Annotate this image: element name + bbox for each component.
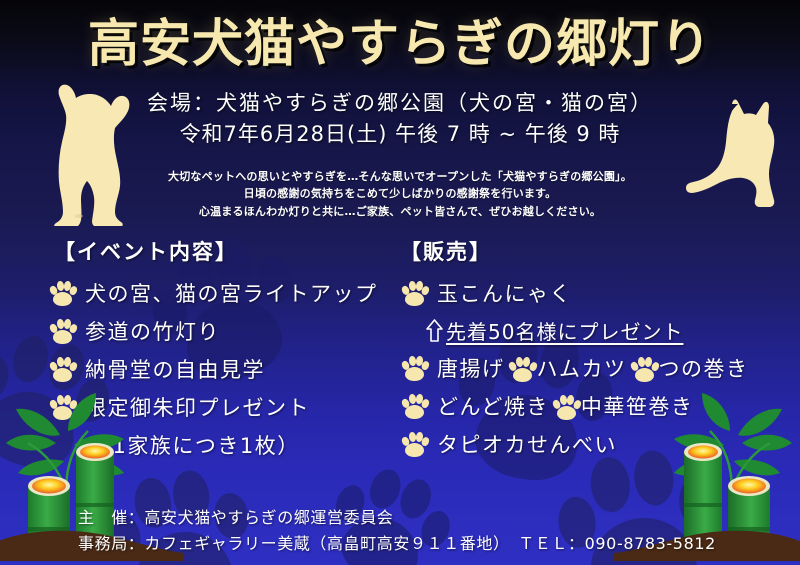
paw-icon xyxy=(630,356,658,381)
event-list-item: 納骨堂の自由見学 xyxy=(48,354,408,384)
paw-icon xyxy=(48,318,78,345)
paw-icon xyxy=(508,356,536,381)
description-line-2: 日頃の感謝の気持ちをこめて少しばかりの感謝祭を行います。 xyxy=(0,185,800,202)
sales-list-item: 玉こんにゃく xyxy=(400,278,790,308)
event-item-label: 犬の宮、猫の宮ライトアップ xyxy=(85,278,378,308)
sales-list-item: 唐揚げ ハムカツ つの巻き xyxy=(400,353,790,383)
event-list-item: 参道の竹灯り xyxy=(48,316,408,346)
paw-icon xyxy=(400,431,430,458)
arrow-up-icon xyxy=(426,319,443,343)
venue-block: 会場：犬猫やすらぎの郷公園（犬の宮・猫の宮） 令和7年6月28日(土) 午後 7… xyxy=(0,89,800,150)
description-block: 大切なペットへの思いとやすらぎを…そんな思いでオープンした「犬猫やすらぎの郷公園… xyxy=(0,168,800,220)
paw-icon xyxy=(400,355,430,382)
sales-item-label: つの巻き xyxy=(659,353,749,383)
paw-icon xyxy=(400,393,430,420)
venue-location: 会場：犬猫やすらぎの郷公園（犬の宮・猫の宮） xyxy=(0,89,800,119)
venue-datetime: 令和7年6月28日(土) 午後 7 時 ~ 午後 9 時 xyxy=(0,119,800,151)
poster-title: 高安犬猫やすらぎの郷灯り xyxy=(0,19,800,70)
sales-item-label: 唐揚げ xyxy=(437,353,505,383)
sales-item-label: 玉こんにゃく xyxy=(437,278,572,308)
paw-icon xyxy=(48,280,78,307)
event-item-label: 納骨堂の自由見学 xyxy=(85,354,265,384)
event-item-label: 参道の竹灯り xyxy=(85,316,220,346)
footer-block: 主 催：高安犬猫やすらぎの郷運営委員会 事務局：カフェギャラリー美蔵（高畠町高安… xyxy=(78,505,716,557)
paw-icon xyxy=(48,356,78,383)
description-line-3: 心温まるほんわか灯りと共に…ご家族、ペット皆さんで、ぜひお越しください。 xyxy=(0,203,800,220)
sales-giveaway-label: 先着50名様にプレゼント xyxy=(446,316,683,345)
footer-organizer: 主 催：高安犬猫やすらぎの郷運営委員会 xyxy=(78,505,716,531)
event-poster: 高安犬猫やすらぎの郷灯り 会場：犬猫やすらぎの郷公園（犬の宮・猫の宮） 令和7年… xyxy=(0,0,800,565)
sales-item-label: ハムカツ xyxy=(537,353,627,383)
description-line-1: 大切なペットへの思いとやすらぎを…そんな思いでオープンした「犬猫やすらぎの郷公園… xyxy=(0,168,800,185)
sales-item-label: どんど焼き xyxy=(437,391,549,421)
paw-icon xyxy=(552,394,580,419)
paw-icon xyxy=(400,280,430,307)
footer-office-contact: 事務局：カフェギャラリー美蔵（高畠町高安９１１番地） ＴＥＬ：090-8783-… xyxy=(78,531,716,557)
event-list-item: 犬の宮、猫の宮ライトアップ xyxy=(48,278,408,308)
events-heading: 【イベント内容】 xyxy=(48,236,408,266)
sales-heading: 【販売】 xyxy=(400,236,790,266)
sales-giveaway-note: 先着50名様にプレゼント xyxy=(400,316,790,345)
sales-item-label: タピオカせんべい xyxy=(437,429,617,459)
